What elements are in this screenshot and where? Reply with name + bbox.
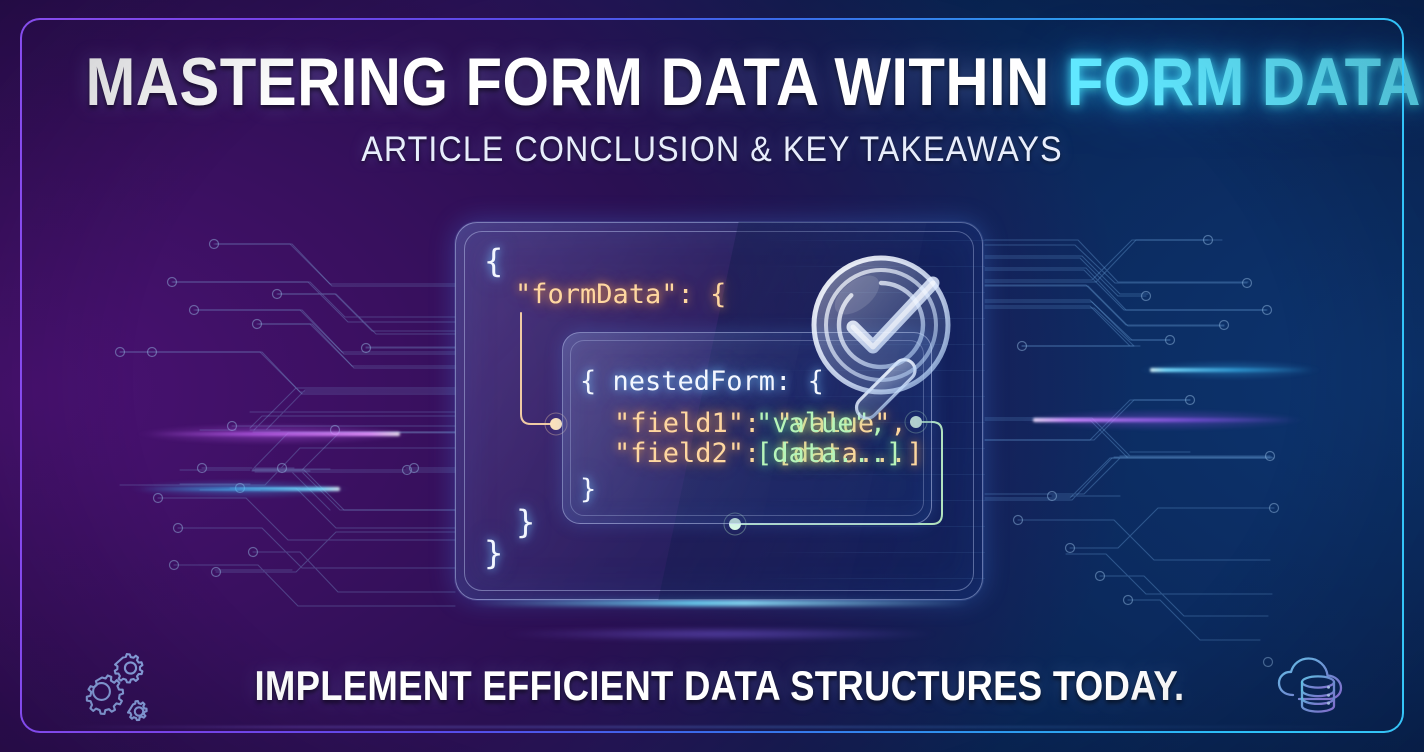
neon-border-frame [20, 18, 1404, 733]
banner-canvas: MASTERING FORM DATA WITHIN FORM DATA JSO… [0, 0, 1424, 752]
